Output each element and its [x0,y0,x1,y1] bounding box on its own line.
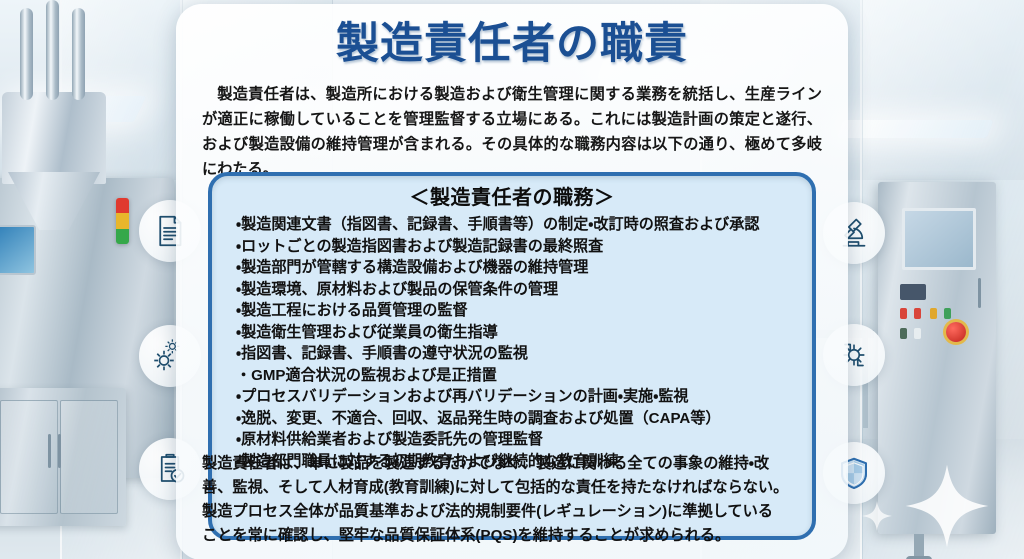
duties-list: 製造関連文書（指図書、記録書、手順書等）の制定・改訂時の照査および承認 ロットご… [226,214,798,472]
list-item: 製造環境、原材料および製品の保管条件の管理 [236,279,798,301]
control-button-grey [900,328,907,339]
machine-pipe-3 [72,8,85,100]
control-button-amber [930,308,937,319]
control-button-white [914,328,921,339]
control-button-red [900,308,907,319]
machine-pipe-2 [46,0,59,100]
outro-line: ことを常に確認し、堅牢な品質保証体系(PQS)を維持することが求められる。 [202,524,824,548]
equipment-cabinet [0,388,126,526]
machine-hopper [8,172,100,230]
machine-pipe-1 [20,8,33,100]
list-item: 製造関連文書（指図書、記録書、手順書等）の制定・改訂時の照査および承認 [236,214,798,236]
sparkle-decoration-small [860,499,894,533]
cabinet-handle-left [48,434,51,468]
list-item: プロセスバリデーションおよび再バリデーションの計画・実施・監視 [236,386,798,408]
page-title: 製造責任者の職責 [176,18,848,70]
control-button-red-2 [914,308,921,319]
sparkle-decoration [904,463,990,549]
list-item: 製造工程における品質管理の監督 [236,300,798,322]
outro-line: 善、監視、そして人材育成(教育訓練)に対して包括的な責任を持たなければならない。 [202,476,824,500]
duties-heading: ＜製造責任者の職務＞ [226,184,798,212]
stack-light-yellow [116,213,129,228]
list-item: 逸脱、変更、不適合、回収、返品発生時の調査および処置（CAPA等） [236,408,798,430]
list-item: 製造衛生管理および従業員の衛生指導 [236,322,798,344]
cabinet-door-right [60,400,118,514]
control-button-green [944,308,951,319]
stack-light-green [116,229,129,244]
andon-stack-light [116,198,129,244]
list-item: ロットごとの製造指図書および製造記録書の最終照査 [236,236,798,258]
control-cabinet-display [902,208,976,270]
control-cabinet-handle [978,278,981,308]
intro-paragraph: 製造責任者は、製造所における製造および衛生管理に関する業務を統括し、生産ラインが… [202,82,822,182]
list-item: 原材料供給業者および製造委託先の管理監督 [236,429,798,451]
content-card: 製造責任者の職責 製造責任者は、製造所における製造および衛生管理に関する業務を統… [176,4,848,559]
list-item: GMP適合状況の監視および是正措置 [236,365,798,387]
control-cabinet-keypad [900,284,926,300]
cabinet-handle-right [58,434,61,468]
slide-canvas: 製造責任者の職責 製造責任者は、製造所における製造および衛生管理に関する業務を統… [0,0,1024,559]
list-item: 製造部門が管轄する構造設備および機器の維持管理 [236,257,798,279]
stack-light-red [116,198,129,213]
machine-vessel [2,92,106,184]
list-item: 指図書、記録書、手順書の遵守状況の監視 [236,343,798,365]
outro-paragraph: 製造責任者は、単に製品を製造するだけでなく、製造に関わる全ての事象の維持・改 善… [202,452,824,548]
outro-line: 製造プロセス全体が品質基準および法的規制要件(レギュレーション)に準拠している [202,500,824,524]
machine-hmi-screen [0,225,36,275]
outro-line: 製造責任者は、単に製品を製造するだけでなく、製造に関わる全ての事象の維持・改 [202,452,824,476]
emergency-stop-button [946,322,966,342]
